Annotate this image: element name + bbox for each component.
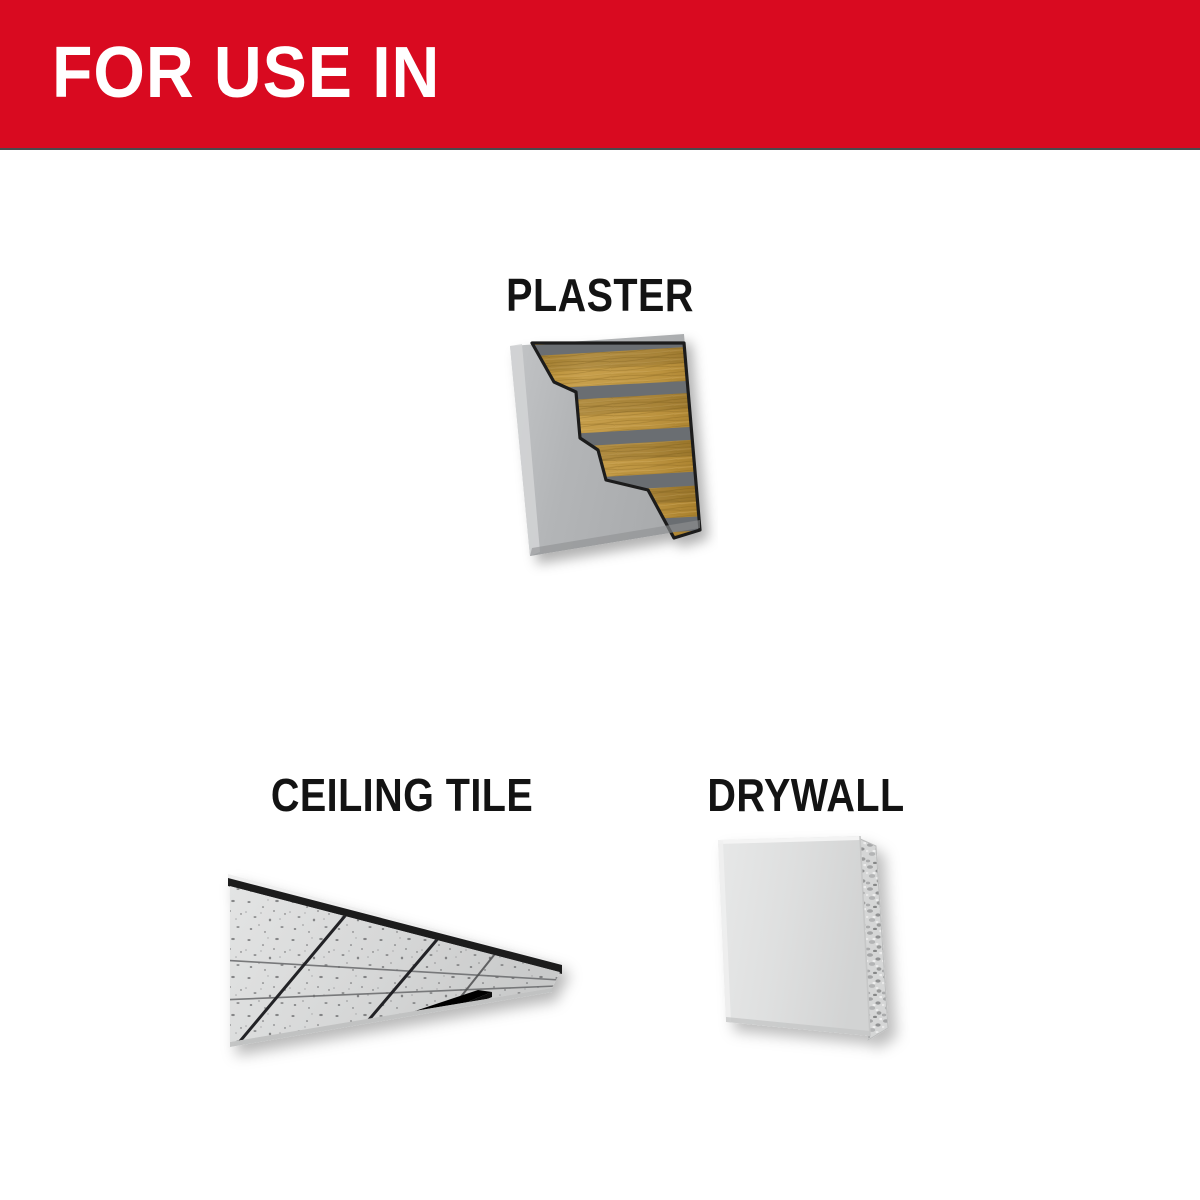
material-label-drywall: DRYWALL	[634, 772, 978, 818]
suspended-ceiling-grid-icon	[200, 860, 590, 1080]
plaster-wall-lath-icon	[488, 330, 718, 600]
gypsum-board-panel-icon	[690, 820, 910, 1060]
material-label-plaster: PLASTER	[428, 272, 772, 318]
header-divider	[0, 148, 1200, 150]
page-title: FOR USE IN	[52, 36, 440, 110]
material-label-ceiling-tile: CEILING TILE	[230, 772, 574, 818]
for-use-in-panel: FOR USE IN PLASTER	[0, 0, 1200, 1200]
